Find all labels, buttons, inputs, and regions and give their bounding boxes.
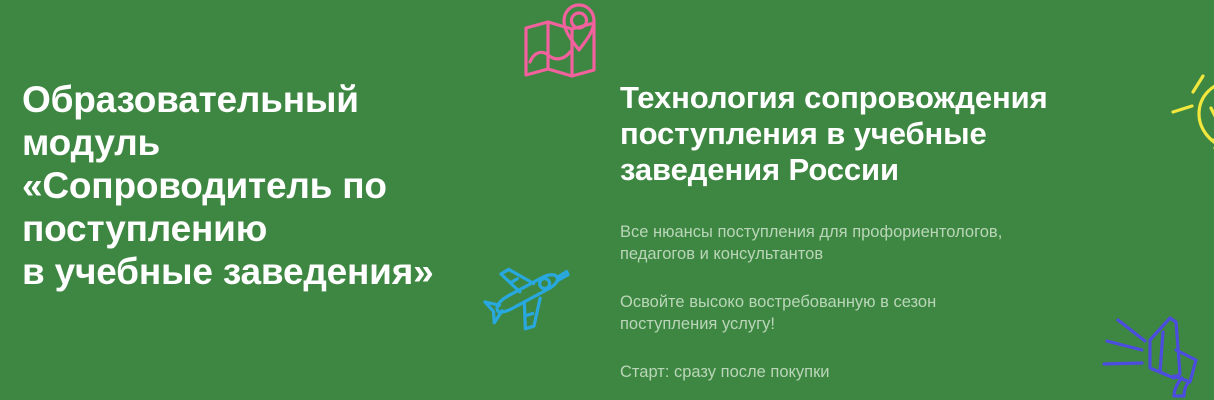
left-column: Образовательный модуль «Сопроводитель по… <box>22 78 502 293</box>
subtitle: Технология сопровождения поступления в у… <box>620 80 1120 188</box>
start-info: Старт: сразу после покупки <box>620 361 1120 383</box>
benefit-item-1: Все нюансы поступления для профориентоло… <box>620 221 1120 265</box>
benefit-item-2: Освойте высоко востребованную в сезон по… <box>620 291 1120 335</box>
lightbulb-icon <box>1163 62 1214 162</box>
promo-banner: Образовательный модуль «Сопроводитель по… <box>0 0 1214 400</box>
benefit-list: Все нюансы поступления для профориентоло… <box>620 221 1120 383</box>
map-pin-icon <box>518 2 604 80</box>
airplane-icon <box>478 252 582 338</box>
main-title: Образовательный модуль «Сопроводитель по… <box>22 78 502 293</box>
right-column: Технология сопровождения поступления в у… <box>620 80 1120 400</box>
